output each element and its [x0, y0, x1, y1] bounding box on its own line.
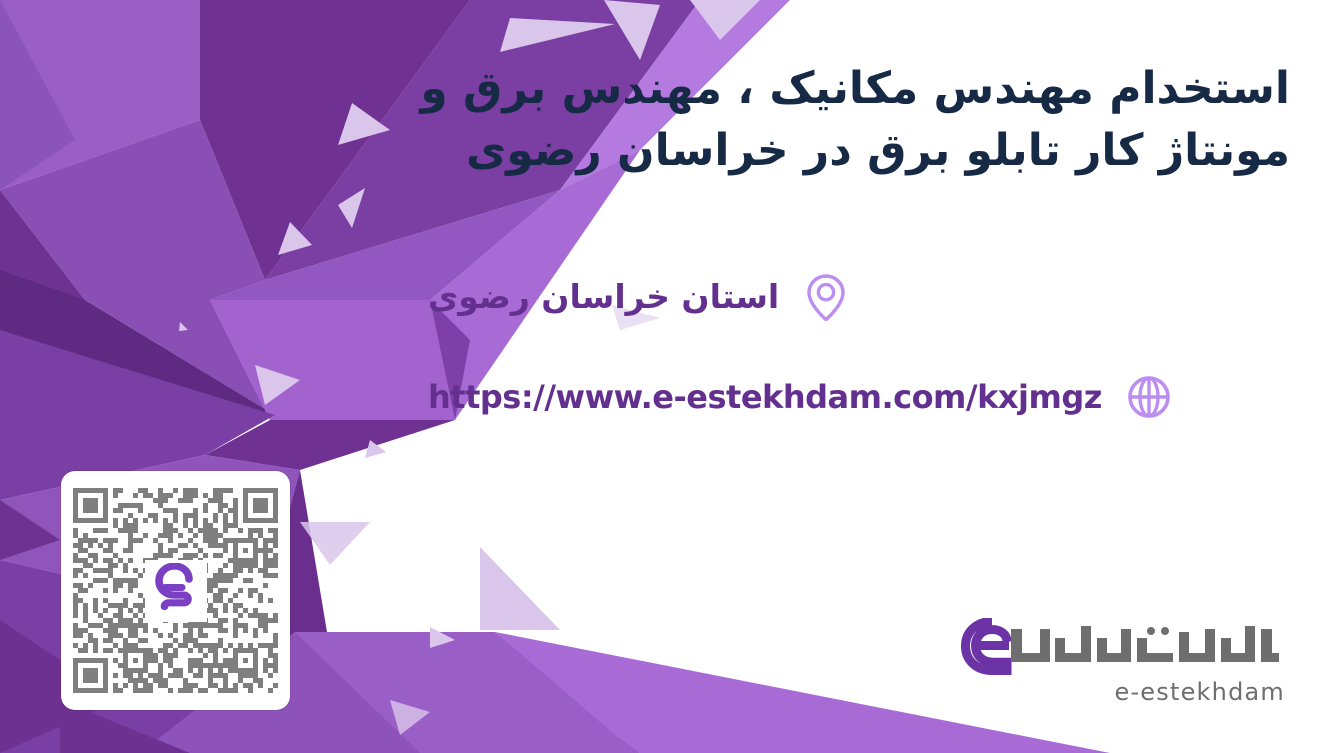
globe-icon: [1124, 372, 1174, 422]
website-row[interactable]: https://www.e-estekhdam.com/kxjmgz: [428, 372, 1288, 422]
brand-wordmark-en: e-estekhdam: [945, 678, 1285, 706]
qr-code-card[interactable]: [61, 471, 290, 710]
job-share-card: استخدام مهندس مکانیک ، مهندس برق و مونتا…: [0, 0, 1340, 753]
job-title: استخدام مهندس مکانیک ، مهندس برق و مونتا…: [410, 58, 1290, 183]
brand-logo: e-estekhdam: [945, 618, 1285, 706]
qr-center-e-mark: [145, 560, 207, 622]
location-row: استان خراسان رضوی: [428, 272, 1288, 322]
job-title-line-2: مونتاژ کار تابلو برق در خراسان رضوی: [410, 120, 1290, 182]
job-title-line-1: استخدام مهندس مکانیک ، مهندس برق و: [410, 58, 1290, 120]
location-text: استان خراسان رضوی: [428, 277, 779, 317]
map-pin-icon: [801, 272, 851, 322]
brand-wordmark-fa: [955, 618, 1285, 676]
website-url-text[interactable]: https://www.e-estekhdam.com/kxjmgz: [428, 378, 1102, 416]
